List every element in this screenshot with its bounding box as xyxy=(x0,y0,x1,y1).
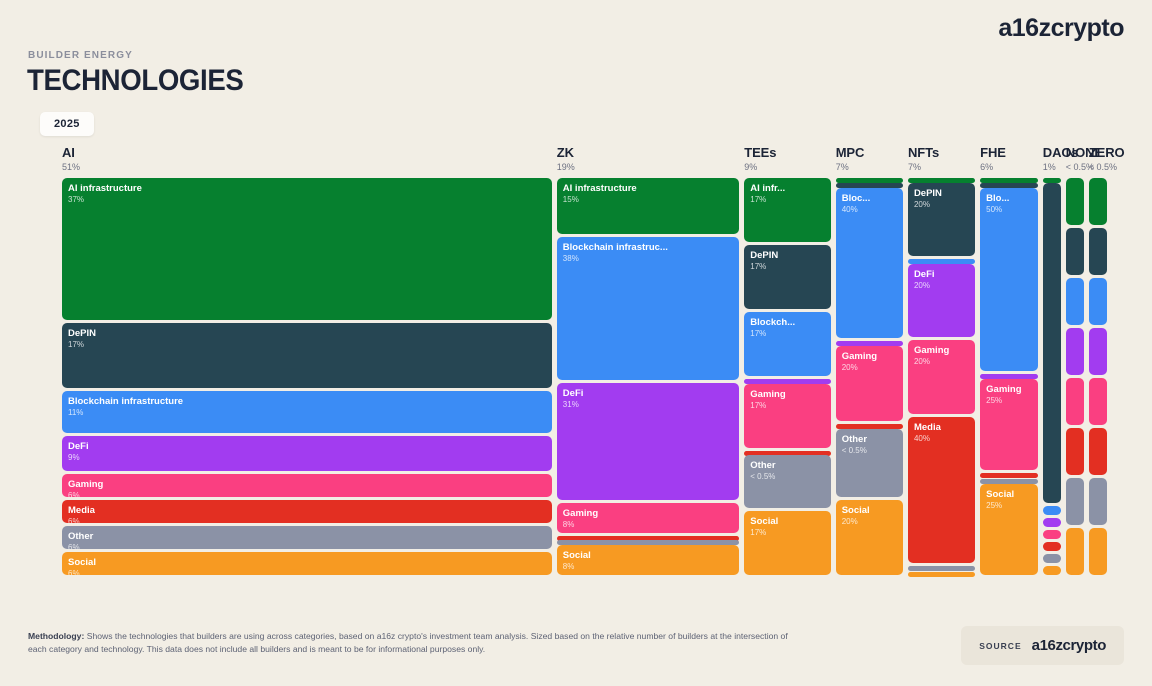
cell-label: DeFi xyxy=(68,441,552,452)
treemap-cell[interactable]: Social6% xyxy=(62,552,552,575)
treemap-cell[interactable]: Gaming20% xyxy=(908,340,975,413)
treemap-cell[interactable] xyxy=(1066,278,1084,325)
treemap-cell[interactable]: Media6% xyxy=(62,500,552,523)
treemap-cell[interactable]: DePIN17% xyxy=(62,323,552,388)
cell-label: Blockchain infrastruc... xyxy=(563,242,739,253)
cell-label: Other xyxy=(750,460,830,471)
column-header: AI51% xyxy=(62,145,80,172)
cell-percent: 11% xyxy=(68,408,552,418)
chart-page: a16zcrypto BUILDER ENERGY TECHNOLOGIES 2… xyxy=(0,0,1152,686)
column-body: Bloc...40%Gaming20%Other< 0.5%Social20% xyxy=(836,178,903,575)
treemap-cell[interactable] xyxy=(1043,506,1061,515)
treemap-column-mpc: MPC7%Bloc...40%Gaming20%Other< 0.5%Socia… xyxy=(836,145,903,575)
column-header: ZK19% xyxy=(557,145,575,172)
treemap-cell[interactable]: Blockch...17% xyxy=(744,312,830,376)
cell-label: Gaming xyxy=(914,345,975,356)
column-percent: 51% xyxy=(62,162,80,172)
column-name: AI xyxy=(62,145,80,160)
cell-percent: 17% xyxy=(750,195,830,205)
column-percent: < 0.5% xyxy=(1089,162,1125,172)
cell-label: Social xyxy=(68,557,552,568)
cell-percent: 38% xyxy=(563,254,739,264)
treemap-cell[interactable]: Blockchain infrastruc...38% xyxy=(557,237,739,380)
cell-percent: 20% xyxy=(842,363,903,373)
treemap-cell[interactable] xyxy=(1089,178,1107,225)
cell-label: Gaming xyxy=(986,384,1038,395)
cell-percent: 17% xyxy=(750,262,830,272)
treemap-column-daos: DAOs1% xyxy=(1043,145,1061,575)
cell-percent: 6% xyxy=(68,569,552,575)
treemap-cell[interactable] xyxy=(1066,478,1084,525)
cell-label: Gaming xyxy=(842,351,903,362)
treemap-cell[interactable] xyxy=(1089,528,1107,575)
column-percent: 7% xyxy=(908,162,939,172)
cell-label: Social xyxy=(563,550,739,561)
cell-percent: 17% xyxy=(68,340,552,350)
treemap-column-zero: ZERO< 0.5% xyxy=(1089,145,1107,575)
cell-percent: 9% xyxy=(68,453,552,463)
cell-label: Blockchain infrastructure xyxy=(68,396,552,407)
column-body: AI infr...17%DePIN17%Blockch...17%Gaming… xyxy=(744,178,830,575)
treemap-cell[interactable] xyxy=(1089,428,1107,475)
treemap-cell[interactable] xyxy=(1066,178,1084,225)
source-label: SOURCE xyxy=(979,641,1021,651)
cell-percent: 17% xyxy=(750,528,830,538)
treemap-cell[interactable] xyxy=(1089,228,1107,275)
column-name: MPC xyxy=(836,145,865,160)
treemap-cell[interactable]: Other< 0.5% xyxy=(836,429,903,497)
cell-percent: 20% xyxy=(914,200,975,210)
cell-percent: 25% xyxy=(986,501,1038,511)
cell-percent: < 0.5% xyxy=(750,472,830,482)
cell-percent: 25% xyxy=(986,396,1038,406)
cell-label: DePIN xyxy=(68,328,552,339)
column-name: ZK xyxy=(557,145,575,160)
treemap-cell[interactable]: DeFi9% xyxy=(62,436,552,471)
cell-label: DePIN xyxy=(750,250,830,261)
treemap-cell[interactable]: Bloc...40% xyxy=(836,188,903,338)
column-body: DePIN20%DeFi20%Gaming20%Media40% xyxy=(908,178,975,575)
cell-percent: 37% xyxy=(68,195,552,205)
treemap-cell[interactable]: DeFi20% xyxy=(908,264,975,337)
cell-percent: 31% xyxy=(563,400,739,410)
treemap-cell[interactable]: Gaming6% xyxy=(62,474,552,497)
column-name: NFTs xyxy=(908,145,939,160)
source-badge: SOURCE a16zcrypto xyxy=(961,626,1124,665)
cell-percent: 50% xyxy=(986,205,1038,215)
column-header: FHE6% xyxy=(980,145,1006,172)
treemap-cell[interactable] xyxy=(980,473,1038,478)
page-title: TECHNOLOGIES xyxy=(27,64,243,98)
cell-label: Gaming xyxy=(563,508,739,519)
treemap-column-zk: ZK19%AI infrastructure15%Blockchain infr… xyxy=(557,145,739,575)
cell-percent: 20% xyxy=(914,357,975,367)
treemap-cell[interactable]: Gaming8% xyxy=(557,503,739,533)
treemap-cell[interactable] xyxy=(1043,530,1061,539)
cell-label: AI infr... xyxy=(750,183,830,194)
column-body: AI infrastructure37%DePIN17%Blockchain i… xyxy=(62,178,552,575)
column-percent: 9% xyxy=(744,162,776,172)
treemap-column-nfts: NFTs7%DePIN20%DeFi20%Gaming20%Media40% xyxy=(908,145,975,575)
cell-label: Blockch... xyxy=(750,317,830,328)
treemap-cell[interactable]: Social20% xyxy=(836,500,903,575)
treemap-column-fhe: FHE6%Blo...50%Gaming25%Social25% xyxy=(980,145,1038,575)
cell-label: Social xyxy=(842,505,903,516)
column-header: NFTs7% xyxy=(908,145,939,172)
treemap-cell[interactable] xyxy=(1066,328,1084,375)
year-filter-chip[interactable]: 2025 xyxy=(40,112,94,136)
cell-percent: 40% xyxy=(842,205,903,215)
column-body: Blo...50%Gaming25%Social25% xyxy=(980,178,1038,575)
cell-label: DeFi xyxy=(563,388,739,399)
cell-label: AI infrastructure xyxy=(68,183,552,194)
treemap-cell[interactable]: Social17% xyxy=(744,511,830,575)
treemap-cell[interactable]: Media40% xyxy=(908,417,975,564)
treemap-cell[interactable] xyxy=(1089,278,1107,325)
page-eyebrow: BUILDER ENERGY xyxy=(28,50,133,61)
column-body xyxy=(1043,178,1061,575)
treemap-cell[interactable]: Blockchain infrastructure11% xyxy=(62,391,552,433)
cell-percent: < 0.5% xyxy=(842,446,903,456)
treemap-cell[interactable] xyxy=(1066,528,1084,575)
column-header: MPC7% xyxy=(836,145,865,172)
source-logo: a16zcrypto xyxy=(1032,637,1106,654)
treemap-cell[interactable] xyxy=(1043,566,1061,575)
cell-percent: 8% xyxy=(563,562,739,572)
treemap-cell[interactable]: DeFi31% xyxy=(557,383,739,500)
column-name: FHE xyxy=(980,145,1006,160)
treemap-cell[interactable] xyxy=(1066,378,1084,425)
treemap-cell[interactable]: Gaming20% xyxy=(836,346,903,421)
treemap-chart: AI51%AI infrastructure37%DePIN17%Blockch… xyxy=(62,145,1072,575)
column-percent: 6% xyxy=(980,162,1006,172)
treemap-cell[interactable]: AI infrastructure37% xyxy=(62,178,552,320)
cell-percent: 40% xyxy=(914,434,975,444)
treemap-cell[interactable]: Gaming25% xyxy=(980,379,1038,470)
treemap-cell[interactable]: AI infr...17% xyxy=(744,178,830,242)
treemap-cell[interactable]: AI infrastructure15% xyxy=(557,178,739,234)
cell-percent: 6% xyxy=(68,517,552,523)
treemap-cell[interactable]: DePIN20% xyxy=(908,183,975,256)
cell-label: Other xyxy=(842,434,903,445)
treemap-cell[interactable] xyxy=(1089,478,1107,525)
column-body xyxy=(1089,178,1107,575)
cell-percent: 17% xyxy=(750,401,830,411)
cell-label: Media xyxy=(914,422,975,433)
treemap-column-tees: TEEs9%AI infr...17%DePIN17%Blockch...17%… xyxy=(744,145,830,575)
cell-percent: 6% xyxy=(68,543,552,549)
cell-label: Bloc... xyxy=(842,193,903,204)
methodology-text: Shows the technologies that builders are… xyxy=(28,631,788,654)
cell-label: DePIN xyxy=(914,188,975,199)
treemap-cell[interactable] xyxy=(908,566,975,571)
cell-label: Other xyxy=(68,531,552,542)
treemap-cell[interactable] xyxy=(1089,328,1107,375)
treemap-cell[interactable] xyxy=(1066,228,1084,275)
cell-label: Gaming xyxy=(750,389,830,400)
treemap-cell[interactable] xyxy=(1043,542,1061,551)
treemap-cell[interactable] xyxy=(980,479,1038,484)
cell-label: Social xyxy=(986,489,1038,500)
treemap-cell[interactable] xyxy=(1043,518,1061,527)
treemap-column-ai: AI51%AI infrastructure37%DePIN17%Blockch… xyxy=(62,145,552,575)
cell-label: Media xyxy=(68,505,552,516)
treemap-cell[interactable]: DePIN17% xyxy=(744,245,830,309)
cell-percent: 6% xyxy=(68,491,552,497)
cell-label: Social xyxy=(750,516,830,527)
methodology-note: Methodology: Shows the technologies that… xyxy=(28,630,803,656)
cell-percent: 15% xyxy=(563,195,739,205)
column-name: TEEs xyxy=(744,145,776,160)
treemap-cell[interactable]: Other6% xyxy=(62,526,552,549)
cell-percent: 8% xyxy=(563,520,739,530)
methodology-label: Methodology: xyxy=(28,631,84,641)
treemap-cell[interactable] xyxy=(1066,428,1084,475)
column-body xyxy=(1066,178,1084,575)
cell-percent: 20% xyxy=(914,281,975,291)
cell-label: AI infrastructure xyxy=(563,183,739,194)
treemap-cell[interactable]: Social8% xyxy=(557,545,739,575)
column-header: ZERO< 0.5% xyxy=(1089,145,1125,172)
treemap-cell[interactable]: Blo...50% xyxy=(980,188,1038,371)
treemap-column-none: NONE< 0.5% xyxy=(1066,145,1084,575)
cell-label: DeFi xyxy=(914,269,975,280)
cell-percent: 17% xyxy=(750,329,830,339)
cell-percent: 20% xyxy=(842,517,903,527)
treemap-cell[interactable]: Gaming17% xyxy=(744,384,830,448)
column-percent: 19% xyxy=(557,162,575,172)
treemap-cell[interactable] xyxy=(1043,183,1061,503)
column-body: AI infrastructure15%Blockchain infrastru… xyxy=(557,178,739,575)
column-name: ZERO xyxy=(1089,145,1125,160)
column-percent: 7% xyxy=(836,162,865,172)
treemap-cell[interactable]: Social25% xyxy=(980,484,1038,575)
column-header: TEEs9% xyxy=(744,145,776,172)
treemap-cell[interactable]: Other< 0.5% xyxy=(744,455,830,508)
cell-label: Gaming xyxy=(68,479,552,490)
a16zcrypto-logo: a16zcrypto xyxy=(998,14,1124,43)
treemap-cell[interactable] xyxy=(1043,554,1061,563)
cell-label: Blo... xyxy=(986,193,1038,204)
treemap-cell[interactable] xyxy=(1089,378,1107,425)
treemap-cell[interactable] xyxy=(908,572,975,577)
